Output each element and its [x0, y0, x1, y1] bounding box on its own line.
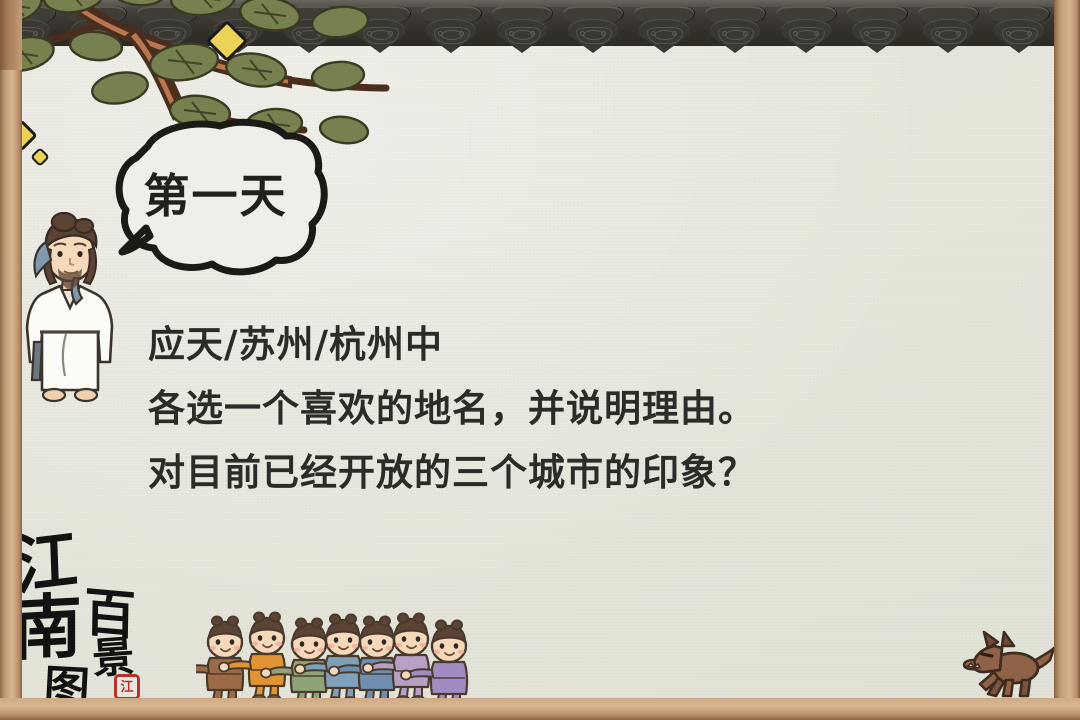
roof-tile [416, 6, 487, 52]
question-line-1: 应天/苏州/杭州中 [148, 312, 948, 376]
roof-tile [842, 6, 913, 52]
frame-top-left [0, 0, 22, 70]
frame-left [0, 0, 22, 720]
roof-tile [984, 6, 1055, 52]
sparkle-icon-large [212, 26, 242, 56]
running-dog [958, 626, 1058, 702]
roof-tile [771, 6, 842, 52]
child-figure [196, 617, 243, 703]
roof-tile [700, 6, 771, 52]
seal-stamp: 江 [114, 674, 140, 700]
roof-tile [558, 6, 629, 52]
sparkle-icon-small [33, 150, 47, 164]
question-text-block: 应天/苏州/杭州中 各选一个喜欢的地名，并说明理由。 对目前已经开放的三个城市的… [148, 312, 948, 504]
bubble-title: 第一天 [108, 118, 323, 273]
game-logo: 江 南 百 景 图 江 [6, 510, 166, 710]
scholar-character [18, 212, 122, 412]
scene-root: 第一天 [0, 0, 1080, 720]
roof-tile [913, 6, 984, 52]
frame-bottom [0, 698, 1080, 720]
question-line-3: 对目前已经开放的三个城市的印象？ [148, 440, 948, 504]
roof-tile [487, 6, 558, 52]
question-line-2: 各选一个喜欢的地名，并说明理由。 [148, 376, 948, 440]
roof-tile [629, 6, 700, 52]
children-group [196, 606, 496, 702]
frame-right [1054, 0, 1080, 720]
speech-bubble: 第一天 [108, 118, 348, 283]
